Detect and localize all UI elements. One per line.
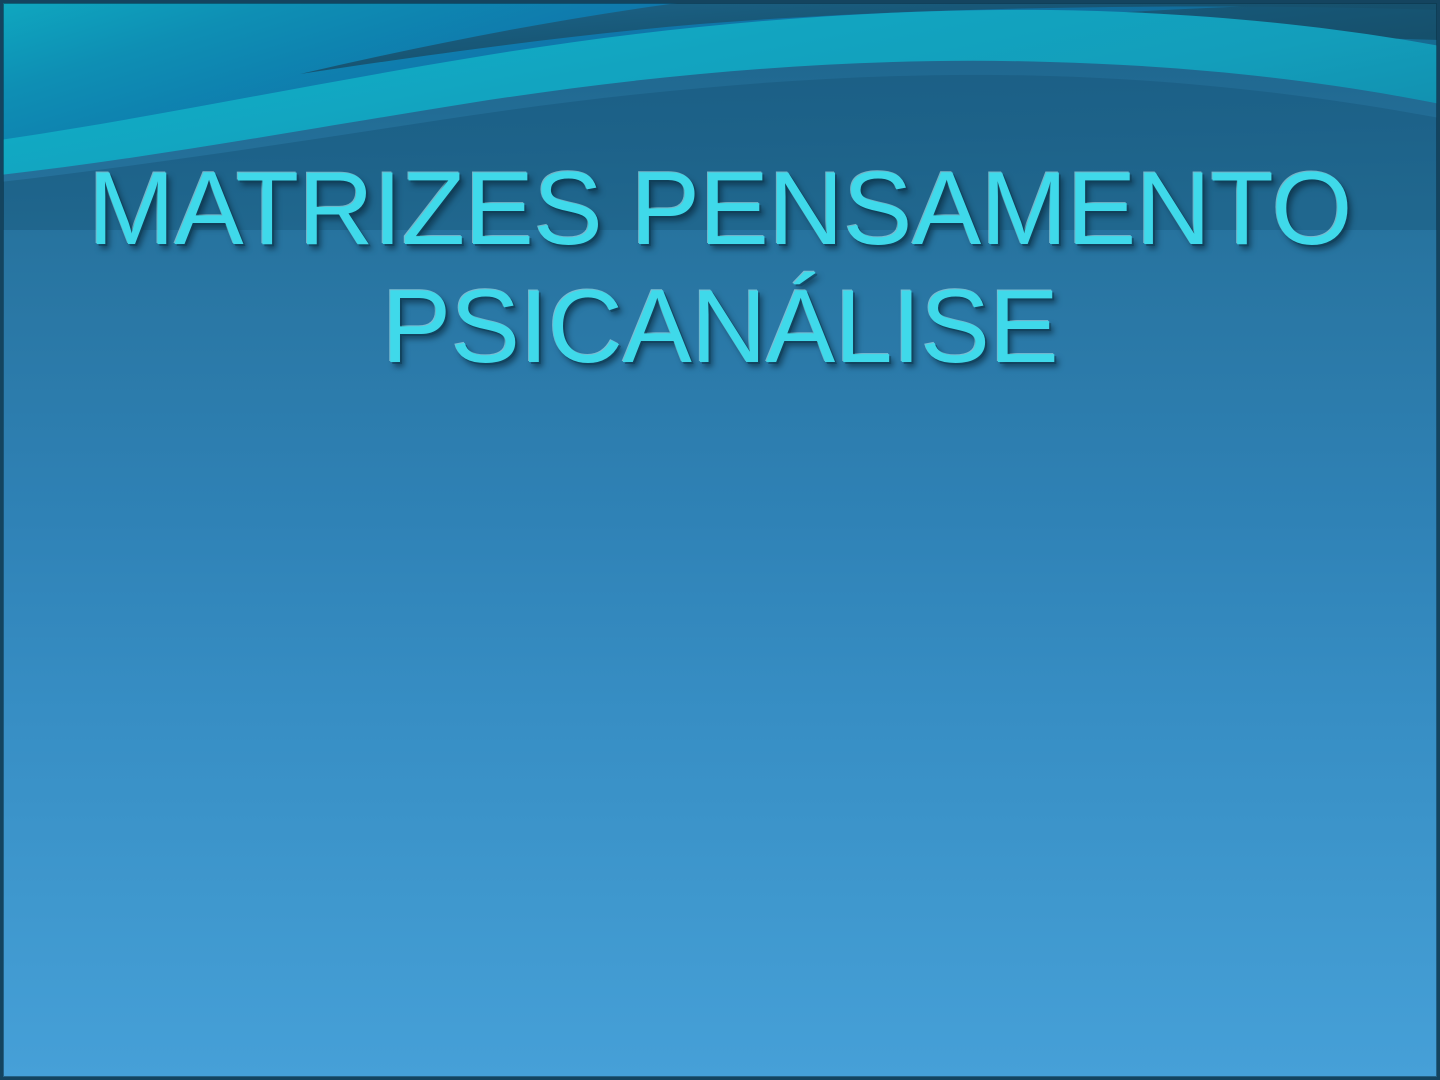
title-line-1: MATRIZES PENSAMENTO	[0, 150, 1440, 268]
wave-cyan-ribbon	[0, 0, 1440, 175]
wave-dark-sliver-tail	[420, 2, 1440, 104]
title-line-2: PSICANÁLISE	[0, 268, 1440, 386]
wave-upper-band	[0, 0, 1440, 160]
title-block: MATRIZES PENSAMENTO PSICANÁLISE	[0, 150, 1440, 386]
wave-dark-sliver	[300, 0, 1440, 74]
title-slide: MATRIZES PENSAMENTO PSICANÁLISE	[0, 0, 1440, 1080]
